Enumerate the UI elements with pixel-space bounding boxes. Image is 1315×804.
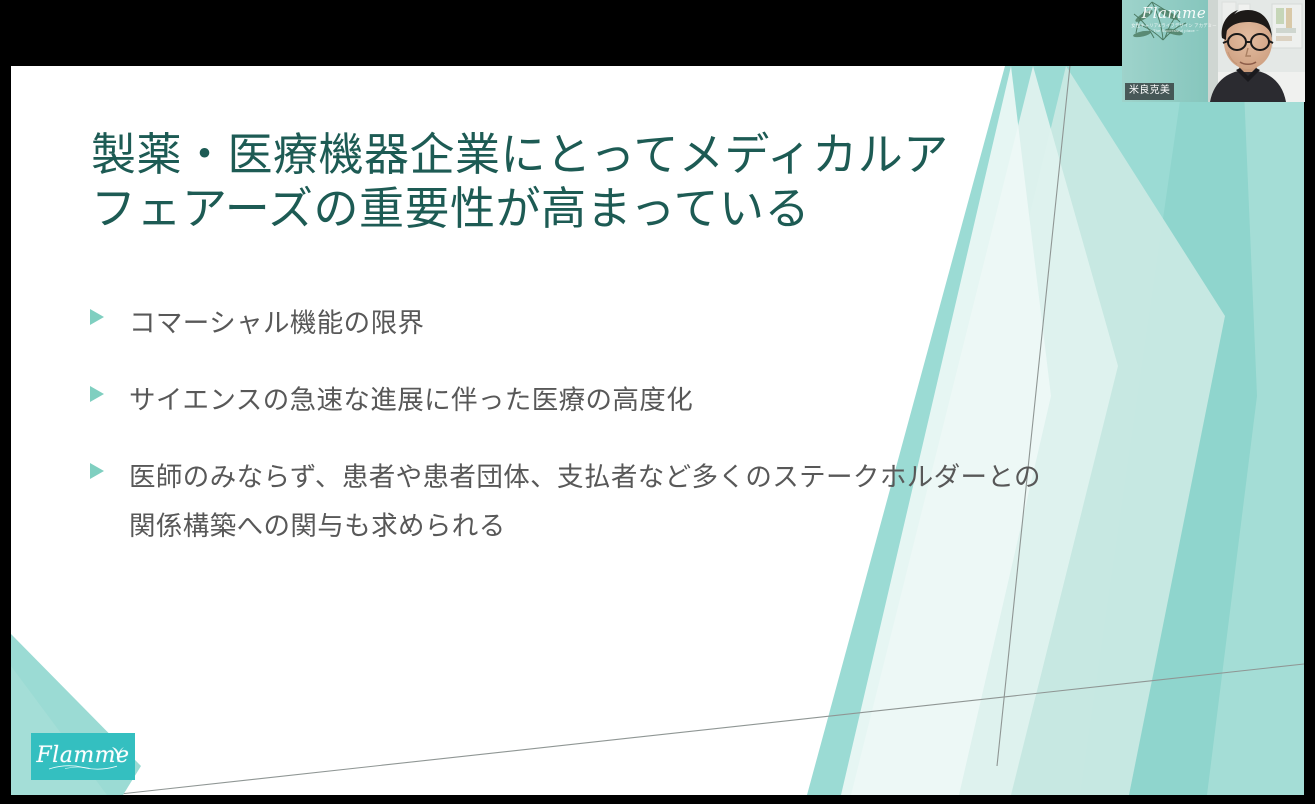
list-item: 医師のみならず、患者や患者団体、支払者など多くのステークホルダーとの関係構築への…: [89, 453, 1059, 551]
screen-root: 製薬・医療機器企業にとってメディカルアフェアーズの重要性が高まっている コマーシ…: [0, 0, 1315, 804]
triangle-bullet-icon: [89, 462, 105, 480]
slide-title: 製薬・医療機器企業にとってメディカルアフェアーズの重要性が高まっている: [91, 128, 991, 236]
swash-flourish-icon: [47, 764, 119, 771]
triangle-bullet-icon: [89, 385, 105, 403]
video-brand-watermark: Flamme 女性キャリア&ライフデザイン アカデミー ~ The Succes…: [1128, 6, 1220, 33]
flamme-logo: Flamme: [31, 733, 135, 780]
slide-bullet-list: コマーシャル機能の限界 サイエンスの急速な進展に伴った医療の高度化 医師のみなら…: [89, 299, 1059, 579]
bullet-text: コマーシャル機能の限界: [129, 299, 1059, 348]
bullet-text: 医師のみならず、患者や患者団体、支払者など多くのステークホルダーとの関係構築への…: [129, 453, 1059, 551]
video-brand-name: Flamme: [1128, 6, 1220, 22]
video-participant-tile[interactable]: Flamme 女性キャリア&ライフデザイン アカデミー ~ The Succes…: [1122, 0, 1305, 102]
presentation-slide: 製薬・医療機器企業にとってメディカルアフェアーズの重要性が高まっている コマーシ…: [11, 66, 1304, 795]
list-item: サイエンスの急速な進展に伴った医療の高度化: [89, 376, 1059, 425]
list-item: コマーシャル機能の限界: [89, 299, 1059, 348]
triangle-bullet-icon: [89, 308, 105, 326]
participant-name-label: 米良克美: [1125, 83, 1174, 100]
leaf-flourish-icon: [110, 744, 126, 762]
video-brand-tagline-2: ~ The Successful place ~: [1128, 29, 1220, 33]
bullet-text: サイエンスの急速な進展に伴った医療の高度化: [129, 376, 1059, 425]
